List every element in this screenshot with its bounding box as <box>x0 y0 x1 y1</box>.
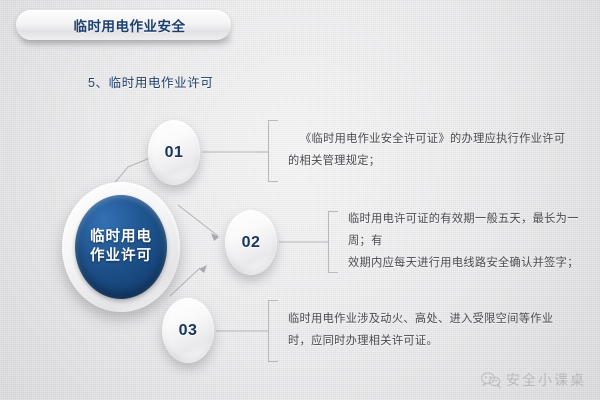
text-block-03-line1: 临时用电作业涉及动火、高处、进入受限空间等作业 <box>288 309 553 331</box>
central-hub-core: 临时用电 作业许可 <box>75 195 167 299</box>
node-02[interactable]: 02 <box>225 210 277 275</box>
text-block-01-body: 《临时用电作业安全许可证》的办理应执行作业许可 的相关管理规定； <box>278 120 565 182</box>
node-03-number: 03 <box>179 322 198 340</box>
arrow-head-03 <box>199 265 207 273</box>
node-01-number: 01 <box>165 144 184 162</box>
node-02-number: 02 <box>242 234 261 252</box>
bracket-01 <box>268 120 278 182</box>
text-block-02-line2: 效期内应每天进行用电线路安全确认并签字； <box>348 253 600 275</box>
text-block-03-body: 临时用电作业涉及动火、高处、进入受限空间等作业 时，应同时办理相关许可证。 <box>278 300 553 362</box>
text-block-03-line2: 时，应同时办理相关许可证。 <box>288 331 553 353</box>
wechat-icon <box>481 372 501 388</box>
text-block-02-line1: 临时用电许可证的有效期一般五天，最长为一周；有 <box>348 209 600 253</box>
slide-canvas: 临时用电作业安全 5、临时用电作业许可 临时用电 <box>0 0 600 400</box>
watermark: 安全小课桌 <box>481 370 586 390</box>
node-03[interactable]: 03 <box>162 298 214 363</box>
text-block-01: 《临时用电作业安全许可证》的办理应执行作业许可 的相关管理规定； <box>268 120 565 182</box>
hub-label-line2: 作业许可 <box>90 247 152 266</box>
text-block-02-body: 临时用电许可证的有效期一般五天，最长为一周；有 效期内应每天进行用电线路安全确认… <box>338 211 600 273</box>
bracket-02 <box>328 211 338 273</box>
bracket-03 <box>268 300 278 362</box>
central-hub[interactable]: 临时用电 作业许可 <box>62 182 180 312</box>
watermark-label: 安全小课桌 <box>506 370 586 390</box>
node-01[interactable]: 01 <box>148 120 200 185</box>
text-block-01-line1: 《临时用电作业安全许可证》的办理应执行作业许可 <box>288 129 565 151</box>
text-block-01-line2: 的相关管理规定； <box>288 151 565 173</box>
hub-label-line1: 临时用电 <box>90 228 152 247</box>
connector-hub-to-02 <box>178 205 218 236</box>
text-block-02: 临时用电许可证的有效期一般五天，最长为一周；有 效期内应每天进行用电线路安全确认… <box>328 211 600 273</box>
text-block-03: 临时用电作业涉及动火、高处、进入受限空间等作业 时，应同时办理相关许可证。 <box>268 300 553 362</box>
